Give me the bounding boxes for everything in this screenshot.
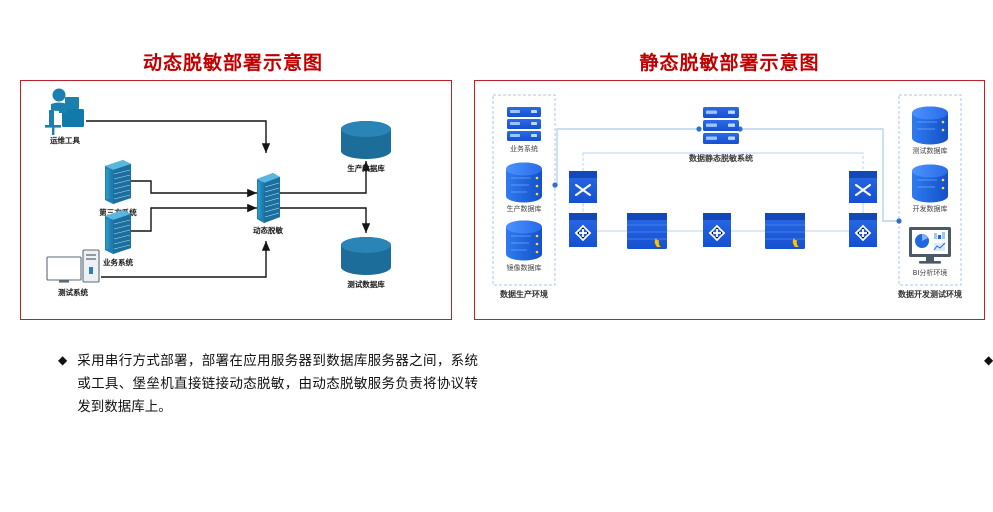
node-switch-right-icon bbox=[849, 171, 877, 203]
label-bi-analysis-env: BI分析环境 bbox=[913, 268, 948, 277]
node-router-left-icon bbox=[569, 213, 597, 247]
bullet-diamond-icon: ◆ bbox=[58, 350, 67, 371]
static-diagram-canvas: 数据生产环境 数据开发测试环境 bbox=[475, 81, 984, 319]
node-third-party-system-icon bbox=[105, 160, 131, 204]
node-business-system-icon bbox=[105, 210, 131, 254]
label-test-system: 测试系统 bbox=[58, 287, 88, 297]
bullet-text-dynamic: 采用串行方式部署，部署在应用服务器到数据库服务器之间，系统或工具、堡垒机直接链接… bbox=[77, 350, 478, 420]
label-dynamic-masking: 动态脱敏 bbox=[253, 225, 283, 235]
node-firewall-left-icon bbox=[627, 213, 667, 249]
label-mirror-database: 镜像数据库 bbox=[507, 263, 542, 272]
node-bi-analysis-env-icon bbox=[909, 227, 951, 264]
panel-title-dynamic: 动态脱敏部署示意图 bbox=[0, 48, 466, 75]
node-mirror-database-icon bbox=[506, 221, 542, 261]
label-ops-tool: 运维工具 bbox=[50, 135, 80, 145]
label-data-dev-test-zone: 数据开发测试环境 bbox=[898, 289, 962, 299]
label-data-production-zone: 数据生产环境 bbox=[500, 289, 548, 299]
node-router-right-icon bbox=[849, 213, 877, 247]
label-business-system: 业务系统 bbox=[103, 257, 133, 267]
static-diagram-frame: 数据生产环境 数据开发测试环境 bbox=[474, 80, 985, 320]
label-test-database: 测试数据库 bbox=[913, 146, 948, 155]
node-test-database-icon bbox=[341, 237, 391, 275]
label-production-database: 生产数据库 bbox=[507, 204, 542, 213]
dynamic-diagram-frame: 运维工具 第三方系统 bbox=[20, 80, 452, 320]
node-switch-left-icon bbox=[569, 171, 597, 203]
static-bullet-block: ◆ 采用物理旁路方式部署，不需改变现有网络结构，同时不需要在生成数据库或测试数据… bbox=[984, 350, 993, 420]
bullet-diamond-icon: ◆ bbox=[984, 350, 993, 371]
label-dev-database: 开发数据库 bbox=[913, 204, 948, 213]
node-dynamic-masking-icon bbox=[257, 173, 280, 223]
panel-title-static: 静态脱敏部署示意图 bbox=[466, 48, 993, 75]
label-production-database: 生产数据库 bbox=[347, 163, 385, 173]
node-production-database-icon bbox=[341, 121, 391, 159]
node-test-database-icon bbox=[912, 107, 948, 145]
label-static-masking-system: 数据静态脱敏系统 bbox=[689, 153, 753, 163]
dynamic-diagram-canvas: 运维工具 第三方系统 bbox=[21, 81, 451, 319]
node-dev-database-icon bbox=[912, 165, 948, 203]
label-test-database: 测试数据库 bbox=[347, 279, 385, 289]
node-router-center-icon bbox=[703, 213, 731, 247]
node-test-system-icon bbox=[47, 250, 99, 283]
node-firewall-right-icon bbox=[765, 213, 805, 249]
bullet-row: ◆ 采用物理旁路方式部署，不需改变现有网络结构，同时不需要在生成数据库或测试数据… bbox=[984, 350, 993, 420]
node-production-database-icon bbox=[506, 163, 542, 203]
label-business-system: 业务系统 bbox=[510, 144, 538, 153]
node-static-masking-system-icon bbox=[703, 107, 739, 144]
node-business-system-icon bbox=[507, 107, 541, 141]
bullet-row: ◆ 采用串行方式部署，部署在应用服务器到数据库服务器之间，系统或工具、堡垒机直接… bbox=[58, 350, 478, 420]
dynamic-bullet-block: ◆ 采用串行方式部署，部署在应用服务器到数据库服务器之间，系统或工具、堡垒机直接… bbox=[58, 350, 478, 420]
node-ops-tool-icon bbox=[45, 89, 84, 136]
